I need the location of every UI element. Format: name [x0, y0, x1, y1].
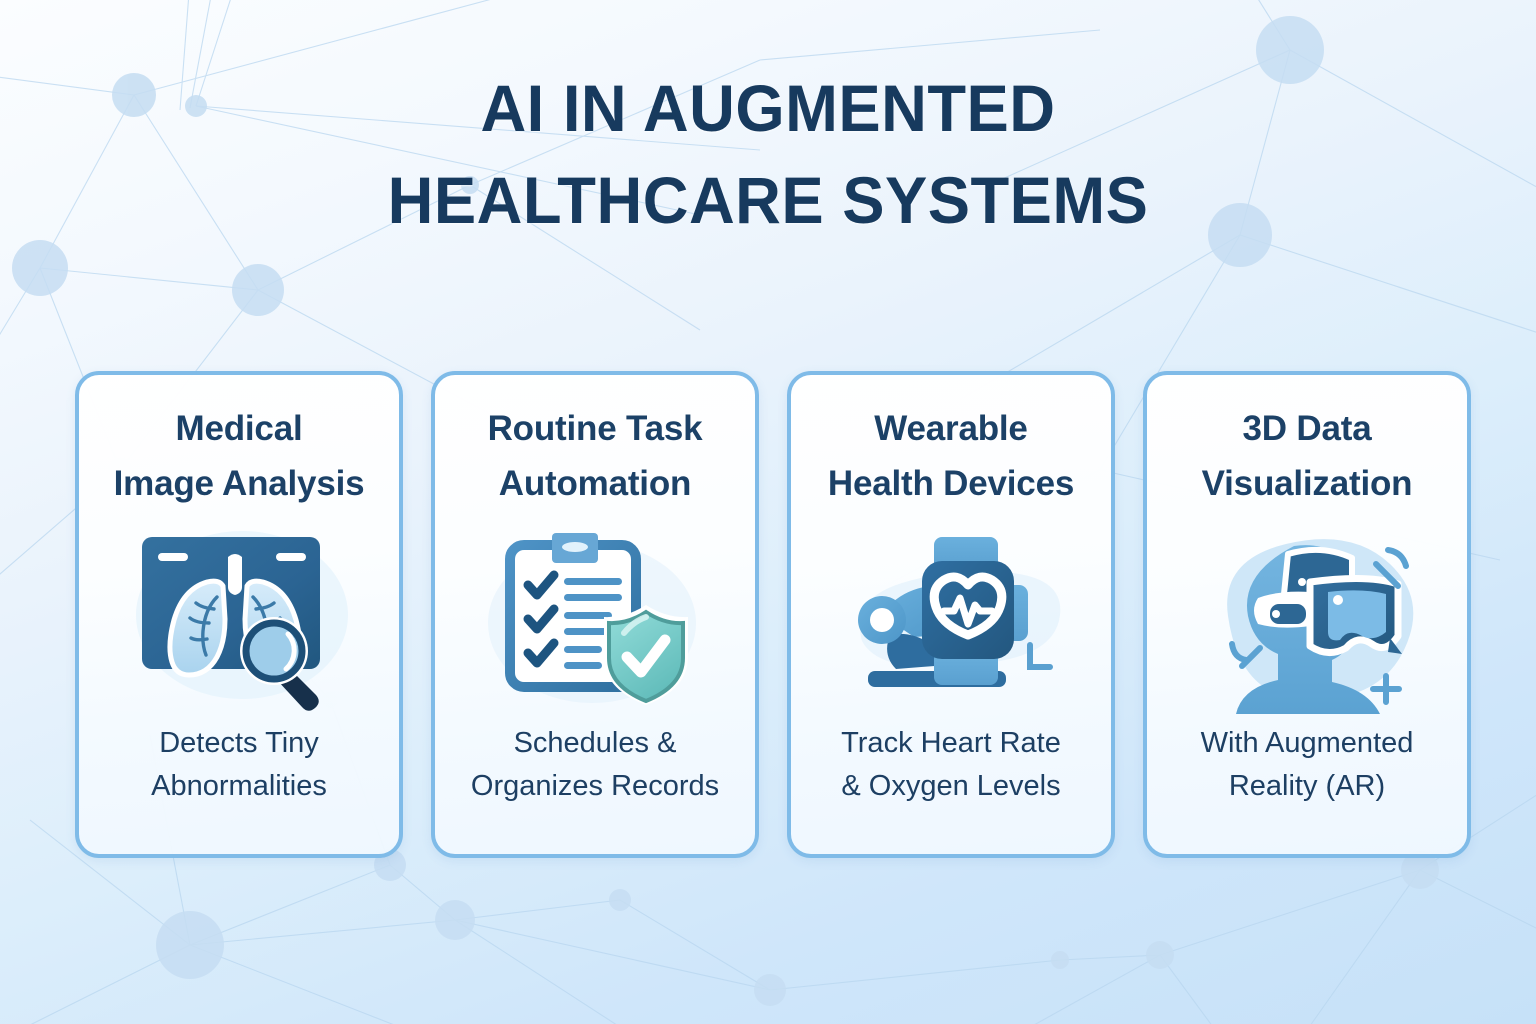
feature-cards-row: Medical Image Analysis: [75, 371, 1471, 858]
page-title-line-2: HEALTHCARE SYSTEMS: [31, 154, 1506, 246]
card-icon-slot: [1159, 513, 1455, 722]
card-title-line-1: Wearable: [803, 401, 1099, 456]
card-title: 3D Data Visualization: [1159, 401, 1455, 511]
card-caption: With Augmented Reality (AR): [1159, 722, 1455, 832]
card-caption-line-2: Organizes Records: [447, 765, 743, 808]
card-caption-line-2: Reality (AR): [1159, 765, 1455, 808]
card-title-line-1: 3D Data: [1159, 401, 1455, 456]
page-title: AI IN AUGMENTED HEALTHCARE SYSTEMS: [0, 62, 1536, 246]
card-title-line-1: Medical: [91, 401, 387, 456]
card-caption-line-1: Schedules &: [447, 722, 743, 765]
card-icon-slot: [447, 513, 743, 722]
card-caption-line-1: Track Heart Rate: [803, 722, 1099, 765]
page-title-line-1: AI IN AUGMENTED: [31, 62, 1506, 154]
card-title-line-2: Visualization: [1159, 456, 1455, 511]
xray-lungs-magnifier-icon: [124, 523, 354, 713]
card-title-line-1: Routine Task: [447, 401, 743, 456]
card-3d-data-visualization[interactable]: 3D Data Visualization: [1143, 371, 1471, 858]
card-title-line-2: Image Analysis: [91, 456, 387, 511]
card-wearable-health-devices[interactable]: Wearable Health Devices: [787, 371, 1115, 858]
card-caption: Schedules & Organizes Records: [447, 722, 743, 832]
card-caption: Detects Tiny Abnormalities: [91, 722, 387, 832]
card-title-line-2: Automation: [447, 456, 743, 511]
clipboard-checklist-shield-icon: [480, 523, 710, 713]
card-title: Routine Task Automation: [447, 401, 743, 511]
card-caption-line-2: & Oxygen Levels: [803, 765, 1099, 808]
card-medical-image-analysis[interactable]: Medical Image Analysis: [75, 371, 403, 858]
smartwatch-heartrate-icon: [834, 523, 1069, 713]
card-title: Wearable Health Devices: [803, 401, 1099, 511]
card-icon-slot: [803, 513, 1099, 722]
card-caption-line-1: With Augmented: [1159, 722, 1455, 765]
card-title: Medical Image Analysis: [91, 401, 387, 511]
card-caption: Track Heart Rate & Oxygen Levels: [803, 722, 1099, 832]
vr-headset-head-icon: [1190, 520, 1425, 715]
card-title-line-2: Health Devices: [803, 456, 1099, 511]
card-icon-slot: [91, 513, 387, 722]
card-caption-line-2: Abnormalities: [91, 765, 387, 808]
card-caption-line-1: Detects Tiny: [91, 722, 387, 765]
card-routine-task-automation[interactable]: Routine Task Automation: [431, 371, 759, 858]
